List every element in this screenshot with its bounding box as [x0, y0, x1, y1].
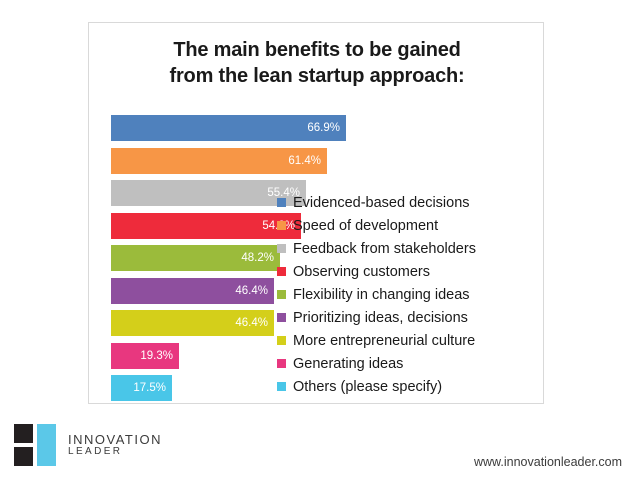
legend-swatch-icon — [277, 267, 286, 276]
legend-item-7: More entrepreneurial culture — [277, 329, 527, 352]
logo-line-2: LEADER — [68, 447, 162, 458]
legend-swatch-icon — [277, 313, 286, 322]
legend-item-6: Prioritizing ideas, decisions — [277, 306, 527, 329]
legend-swatch-icon — [277, 221, 286, 230]
legend-item-4: Observing customers — [277, 260, 527, 283]
bar-value-label: 48.2% — [111, 245, 280, 271]
legend-label: More entrepreneurial culture — [293, 333, 475, 349]
legend-item-8: Generating ideas — [277, 352, 527, 375]
legend-item-1: Evidenced-based decisions — [277, 191, 527, 214]
legend-swatch-icon — [277, 290, 286, 299]
legend-swatch-icon — [277, 244, 286, 253]
legend-swatch-icon — [277, 359, 286, 368]
slide-canvas: The main benefits to be gained from the … — [0, 0, 638, 479]
chart-title-line-1: The main benefits to be gained — [173, 39, 460, 61]
legend-item-9: Others (please specify) — [277, 375, 527, 398]
logo-line-1: INNOVATION — [68, 433, 162, 447]
legend-label: Observing customers — [293, 264, 430, 280]
legend-label: Flexibility in changing ideas — [293, 287, 470, 303]
chart-title-line-2: from the lean startup approach: — [89, 63, 545, 89]
footer-url: www.innovationleader.com — [474, 455, 622, 469]
innovation-leader-logo: INNOVATION LEADER — [14, 424, 162, 466]
legend-label: Feedback from stakeholders — [293, 241, 476, 257]
bar-value-label: 46.4% — [111, 310, 274, 336]
logo-mark-icon — [14, 424, 60, 466]
bar-value-label: 46.4% — [111, 278, 274, 304]
legend-swatch-icon — [277, 336, 286, 345]
bar-value-label: 66.9% — [111, 115, 346, 141]
bar-value-label: 61.4% — [111, 148, 327, 174]
legend-item-3: Feedback from stakeholders — [277, 237, 527, 260]
legend-label: Generating ideas — [293, 356, 403, 372]
bar-value-label: 19.3% — [111, 343, 179, 369]
legend-item-2: Speed of development — [277, 214, 527, 237]
legend-swatch-icon — [277, 382, 286, 391]
chart-title: The main benefits to be gained from the … — [89, 37, 545, 89]
bar-value-label: 54.2% — [111, 213, 301, 239]
legend-swatch-icon — [277, 198, 286, 207]
bar-value-label: 17.5% — [111, 375, 172, 401]
legend-label: Evidenced-based decisions — [293, 195, 470, 211]
logo-wordmark: INNOVATION LEADER — [68, 433, 162, 457]
legend-item-5: Flexibility in changing ideas — [277, 283, 527, 306]
bar-row: 66.9% — [111, 115, 521, 141]
bar-row: 61.4% — [111, 148, 521, 174]
legend-label: Others (please specify) — [293, 379, 442, 395]
chart-legend: Evidenced-based decisionsSpeed of develo… — [277, 191, 527, 398]
legend-label: Prioritizing ideas, decisions — [293, 310, 468, 326]
legend-label: Speed of development — [293, 218, 438, 234]
chart-card: The main benefits to be gained from the … — [88, 22, 544, 404]
